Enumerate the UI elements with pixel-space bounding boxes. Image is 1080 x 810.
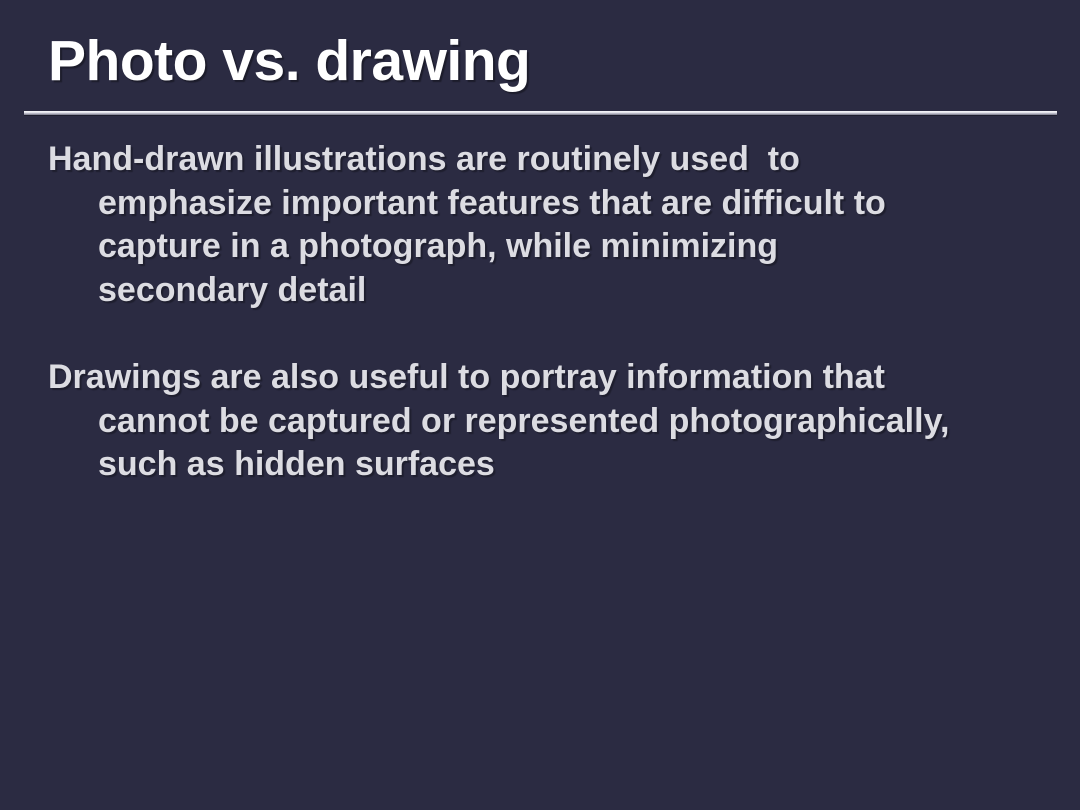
bullet-item: Drawings are also useful to portray info…	[48, 356, 953, 487]
bullet-spacer	[48, 312, 953, 356]
bullet-item: Hand-drawn illustrations are routinely u…	[48, 138, 953, 312]
slide-body: Hand-drawn illustrations are routinely u…	[48, 138, 953, 487]
presentation-slide: Photo vs. drawing Hand-drawn illustratio…	[0, 0, 1080, 810]
title-divider	[24, 111, 1057, 115]
page-title: Photo vs. drawing	[48, 26, 1058, 96]
